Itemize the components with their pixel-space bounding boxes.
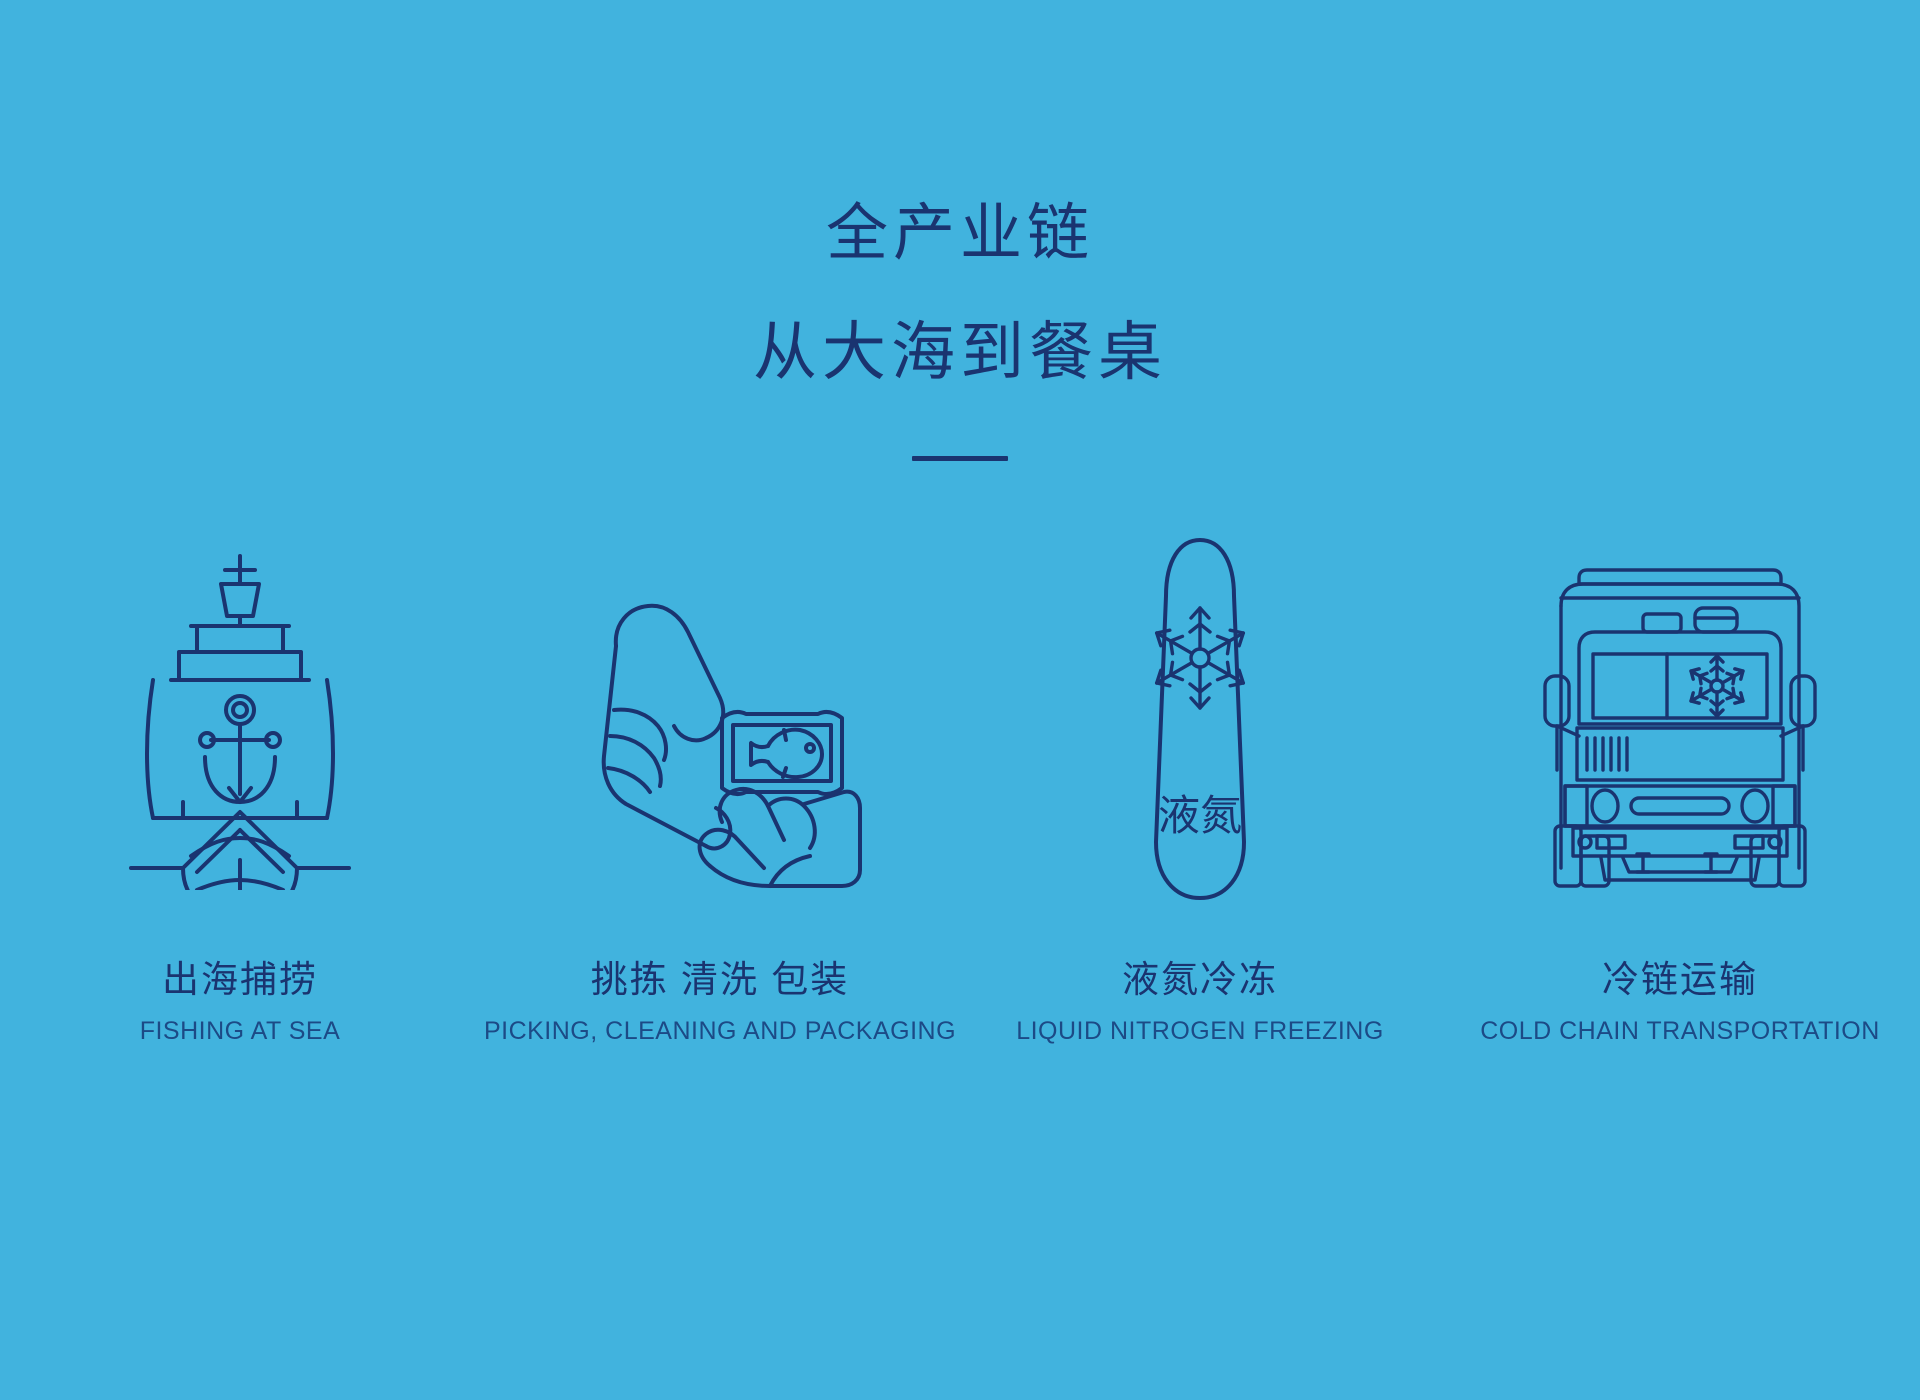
liquid-nitrogen-tank-icon: 液氮 xyxy=(1120,520,1280,920)
fishing-boat-with-anchor-icon xyxy=(125,520,355,920)
step-label-cn: 挑拣 清洗 包装 xyxy=(484,958,956,1002)
tank-label-text: 液氮 xyxy=(1158,792,1242,839)
title-divider xyxy=(912,456,1008,461)
step-caption: 出海捕捞 FISHING AT SEA xyxy=(140,958,341,1048)
step-caption: 液氮冷冻 LIQUID NITROGEN FREEZING xyxy=(1016,958,1384,1048)
step-liquid-nitrogen-freezing: 液氮 液氮冷冻 LIQUID NITROGEN FREEZING xyxy=(960,520,1440,1048)
refrigerated-truck-icon xyxy=(1535,520,1825,920)
step-fishing-at-sea: 出海捕捞 FISHING AT SEA xyxy=(0,520,480,1048)
snowflake-icon xyxy=(1688,656,1746,716)
hands-with-packaged-fish-icon xyxy=(570,520,870,920)
step-label-en: COLD CHAIN TRANSPORTATION xyxy=(1480,1014,1880,1048)
step-label-en: LIQUID NITROGEN FREEZING xyxy=(1016,1014,1384,1048)
page-title-line-2: 从大海到餐桌 xyxy=(0,304,1920,400)
poster-canvas: 全产业链 从大海到餐桌 xyxy=(0,0,1920,1400)
step-label-cn: 液氮冷冻 xyxy=(1016,958,1384,1002)
step-label-cn: 冷链运输 xyxy=(1480,958,1880,1002)
step-label-cn: 出海捕捞 xyxy=(140,958,341,1002)
step-label-en: PICKING, CLEANING AND PACKAGING xyxy=(484,1014,956,1048)
step-cold-chain-transportation: 冷链运输 COLD CHAIN TRANSPORTATION xyxy=(1440,520,1920,1048)
step-caption: 冷链运输 COLD CHAIN TRANSPORTATION xyxy=(1480,958,1880,1048)
heading-block: 全产业链 从大海到餐桌 xyxy=(0,186,1920,461)
step-caption: 挑拣 清洗 包装 PICKING, CLEANING AND PACKAGING xyxy=(484,958,956,1048)
process-steps-row: 出海捕捞 FISHING AT SEA xyxy=(0,520,1920,1048)
step-label-en: FISHING AT SEA xyxy=(140,1014,341,1048)
step-picking-cleaning-packaging: 挑拣 清洗 包装 PICKING, CLEANING AND PACKAGING xyxy=(480,520,960,1048)
page-title-line-1: 全产业链 xyxy=(0,186,1920,282)
